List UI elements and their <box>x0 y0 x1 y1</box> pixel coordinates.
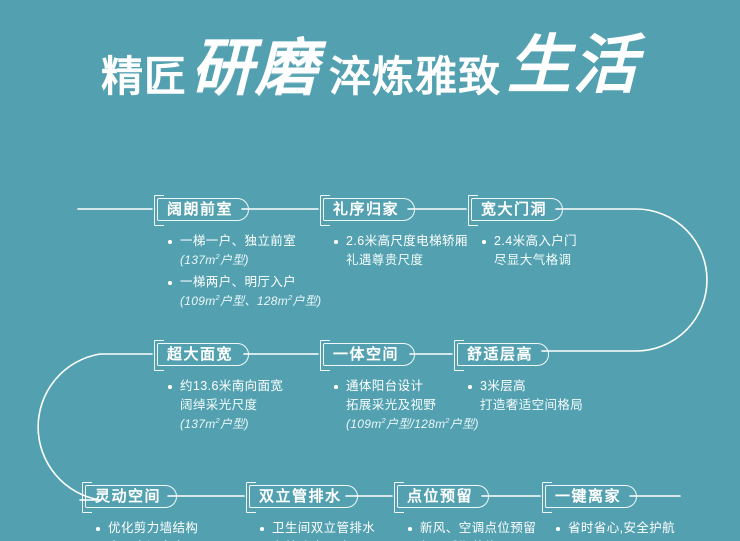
list-item: 省时省心,安全护航 <box>556 519 675 538</box>
feature-chip[interactable]: 阔朗前室 <box>154 198 249 221</box>
feature-node-chaodamiankuan[interactable]: 超大面宽 约13.6米南向面宽 阔绰采光尺度 (137m2户型) <box>154 343 283 437</box>
feature-bullet-list: 一梯一户、独立前室 (137m2户型) 一梯两户、明厅入户 (109m2户型、1… <box>154 232 321 311</box>
list-item: 2.4米高入户门 尽显大气格调 <box>482 232 577 270</box>
feature-chip[interactable]: 礼序归家 <box>320 198 415 221</box>
feature-chip[interactable]: 超大面宽 <box>154 343 249 366</box>
connector-left-uturn <box>38 354 152 500</box>
feature-node-lixuguijia[interactable]: 礼序归家 2.6米高尺度电梯轿厢 礼遇尊贵尺度 <box>320 198 468 273</box>
bullet-sub: 礼遇尊贵尺度 <box>334 251 468 270</box>
feature-chip[interactable]: 一键离家 <box>542 485 637 508</box>
bullet-main: 2.4米高入户门 <box>482 232 577 251</box>
feature-title: 舒适层高 <box>467 346 533 363</box>
bullet-main: 优化剪力墙结构 <box>96 519 198 538</box>
infographic-canvas: 精匠研磨淬炼雅致生活 <box>0 0 740 541</box>
list-item: 一梯一户、独立前室 (137m2户型) <box>168 232 321 270</box>
feature-node-dianweiyuliu[interactable]: 点位预留 新风、空调点位预留 便于后期装修 <box>394 485 536 541</box>
feature-chip[interactable]: 舒适层高 <box>454 343 549 366</box>
feature-title: 一键离家 <box>555 488 621 505</box>
feature-bullet-list: 优化剪力墙结构 实现空间多变 <box>82 519 198 541</box>
bullet-main: 一梯一户、独立前室 <box>168 232 321 251</box>
feature-bullet-list: 卫生间双立管排水 有效防止异味 <box>246 519 375 541</box>
headline-segment-4: 生活 <box>507 34 639 98</box>
feature-node-yijianlijia[interactable]: 一键离家 省时省心,安全护航 <box>542 485 675 541</box>
list-item: 一梯两户、明厅入户 (109m2户型、128m2户型) <box>168 273 321 311</box>
bullet-main: 2.6米高尺度电梯轿厢 <box>334 232 468 251</box>
feature-title: 礼序归家 <box>333 201 399 218</box>
feature-bullet-list: 约13.6米南向面宽 阔绰采光尺度 (137m2户型) <box>154 377 283 434</box>
feature-chip[interactable]: 宽大门洞 <box>468 198 563 221</box>
feature-title: 点位预留 <box>407 488 473 505</box>
bullet-main: 卫生间双立管排水 <box>260 519 375 538</box>
feature-title: 阔朗前室 <box>167 201 233 218</box>
feature-title: 双立管排水 <box>259 488 342 505</box>
feature-title: 超大面宽 <box>167 346 233 363</box>
bullet-main: 3米层高 <box>468 377 583 396</box>
headline-segment-3: 淬炼雅致 <box>329 56 501 98</box>
bullet-sub: 阔绰采光尺度 <box>168 396 283 415</box>
feature-chip[interactable]: 灵动空间 <box>82 485 177 508</box>
feature-chip[interactable]: 点位预留 <box>394 485 489 508</box>
feature-bullet-list: 2.6米高尺度电梯轿厢 礼遇尊贵尺度 <box>320 232 468 270</box>
list-item: 优化剪力墙结构 实现空间多变 <box>96 519 198 541</box>
feature-node-kuolangqianshi[interactable]: 阔朗前室 一梯一户、独立前室 (137m2户型) 一梯两户、明厅入户 (109m… <box>154 198 321 314</box>
list-item: 卫生间双立管排水 有效防止异味 <box>260 519 375 541</box>
bullet-sub: 打造奢适空间格局 <box>468 396 583 415</box>
feature-node-lingdongkongjian[interactable]: 灵动空间 优化剪力墙结构 实现空间多变 <box>82 485 198 541</box>
feature-bullet-list: 3米层高 打造奢适空间格局 <box>454 377 583 415</box>
list-item: 2.6米高尺度电梯轿厢 礼遇尊贵尺度 <box>334 232 468 270</box>
feature-bullet-list: 2.4米高入户门 尽显大气格调 <box>468 232 577 270</box>
page-title: 精匠研磨淬炼雅致生活 <box>0 34 740 98</box>
feature-bullet-list: 省时省心,安全护航 <box>542 519 675 538</box>
feature-title: 宽大门洞 <box>481 201 547 218</box>
list-item: 3米层高 打造奢适空间格局 <box>468 377 583 415</box>
bullet-note: (137m2户型) <box>168 251 321 270</box>
list-item: 约13.6米南向面宽 阔绰采光尺度 (137m2户型) <box>168 377 283 434</box>
feature-bullet-list: 新风、空调点位预留 便于后期装修 <box>394 519 536 541</box>
list-item: 新风、空调点位预留 便于后期装修 <box>408 519 536 541</box>
feature-chip[interactable]: 一体空间 <box>320 343 415 366</box>
feature-title: 一体空间 <box>333 346 399 363</box>
feature-chip[interactable]: 双立管排水 <box>246 485 358 508</box>
headline-segment-1: 精匠 <box>101 56 187 98</box>
headline-segment-2: 研磨 <box>191 37 319 99</box>
bullet-main: 省时省心,安全护航 <box>556 519 675 538</box>
bullet-main: 一梯两户、明厅入户 <box>168 273 321 292</box>
bullet-sub: 尽显大气格调 <box>482 251 577 270</box>
feature-title: 灵动空间 <box>95 488 161 505</box>
bullet-main: 新风、空调点位预留 <box>408 519 536 538</box>
bullet-note: (109m2户型、128m2户型) <box>168 292 321 311</box>
feature-node-shuanglipaishui[interactable]: 双立管排水 卫生间双立管排水 有效防止异味 <box>246 485 375 541</box>
bullet-main: 约13.6米南向面宽 <box>168 377 283 396</box>
bullet-note: (137m2户型) <box>168 415 283 434</box>
feature-node-shushicenggao[interactable]: 舒适层高 3米层高 打造奢适空间格局 <box>454 343 583 418</box>
feature-node-kuandamendong[interactable]: 宽大门洞 2.4米高入户门 尽显大气格调 <box>468 198 577 273</box>
